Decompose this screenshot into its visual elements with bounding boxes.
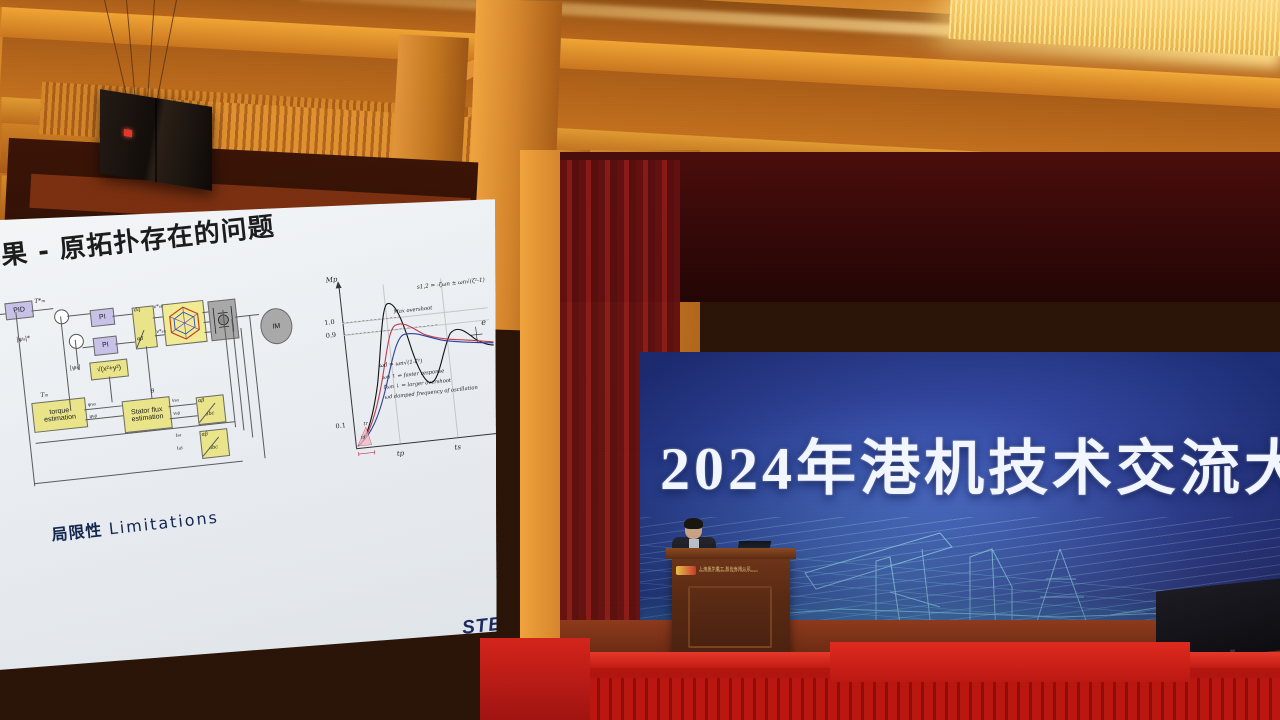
block-stator-flux-estimation: Stator fluxestimation bbox=[122, 396, 173, 433]
block-svm-hexagon bbox=[161, 300, 207, 346]
control-block-diagram: PID PI PI dq αβ bbox=[0, 253, 325, 516]
stage-apron-front bbox=[480, 652, 1280, 720]
hanging-loudspeaker-icon bbox=[100, 89, 212, 191]
led-headline-text: 2024年港机技术交流大会 bbox=[660, 438, 1280, 501]
slide-section-label-cn: 局限性 bbox=[51, 520, 104, 544]
block-pi-2: PI bbox=[93, 336, 119, 356]
block-pi-1: PI bbox=[90, 308, 116, 327]
company-emblem-icon bbox=[676, 566, 696, 575]
step-brand-logo: STEP bbox=[461, 612, 517, 640]
block-induction-motor: IM bbox=[259, 307, 295, 346]
podium-org-line2: SHANGHAI ZHENHUA HEAVY INDUSTRIES bbox=[699, 571, 758, 574]
slide-section-label: 局限性 Limitations bbox=[50, 504, 220, 546]
block-pid: PID bbox=[4, 300, 34, 320]
chart-annotation-e: e bbox=[481, 318, 487, 327]
chart-annotation-td: td bbox=[361, 435, 366, 440]
slide-section-label-en: Limitations bbox=[108, 508, 220, 539]
block-torque-estimation: torqueestimation bbox=[31, 397, 88, 433]
projection-screen: 新成果 - 原拓扑存在的问题 PID PI PI dq αβ bbox=[0, 199, 503, 681]
step-response-chart: Mp 1.0 0.9 0.1 tp ts bbox=[312, 263, 513, 481]
lectern-podium: 上海振华重工 股份有限公司 SHANGHAI ZHENHUA HEAVY IND… bbox=[672, 556, 790, 656]
conference-hall-photo: 2024年港机技术交流大会 上海振华重工 股份有限公司 SHANGHAI ZHE… bbox=[0, 0, 1280, 720]
speaker-power-led bbox=[124, 129, 132, 137]
chart-annotation-tr: tr bbox=[363, 421, 368, 427]
